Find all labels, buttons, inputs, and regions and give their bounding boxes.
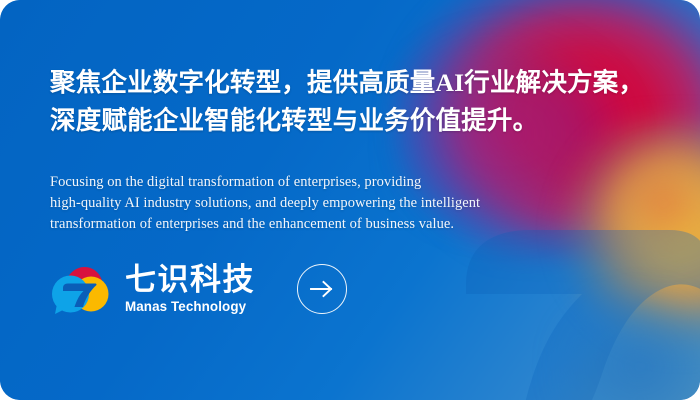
brand-name-en: Manas Technology <box>125 299 255 315</box>
arrow-right-icon <box>309 279 335 299</box>
cloud-seven-logo-icon <box>50 262 112 316</box>
promo-banner: 聚焦企业数字化转型，提供高质量AI行业解决方案， 深度赋能企业智能化转型与业务价… <box>0 0 700 400</box>
brand-logo[interactable]: 七识科技 Manas Technology <box>50 262 255 316</box>
cta-arrow-button[interactable] <box>297 264 347 314</box>
subtitle-text: Focusing on the digital transformation o… <box>50 172 650 235</box>
page-title: 聚焦企业数字化转型，提供高质量AI行业解决方案， 深度赋能企业智能化转型与业务价… <box>50 64 660 140</box>
banner-footer-row: 七识科技 Manas Technology <box>50 262 347 316</box>
brand-name-cn: 七识科技 <box>125 263 255 297</box>
banner-content: 聚焦企业数字化转型，提供高质量AI行业解决方案， 深度赋能企业智能化转型与业务价… <box>0 0 700 400</box>
brand-logo-text: 七识科技 Manas Technology <box>125 263 255 315</box>
